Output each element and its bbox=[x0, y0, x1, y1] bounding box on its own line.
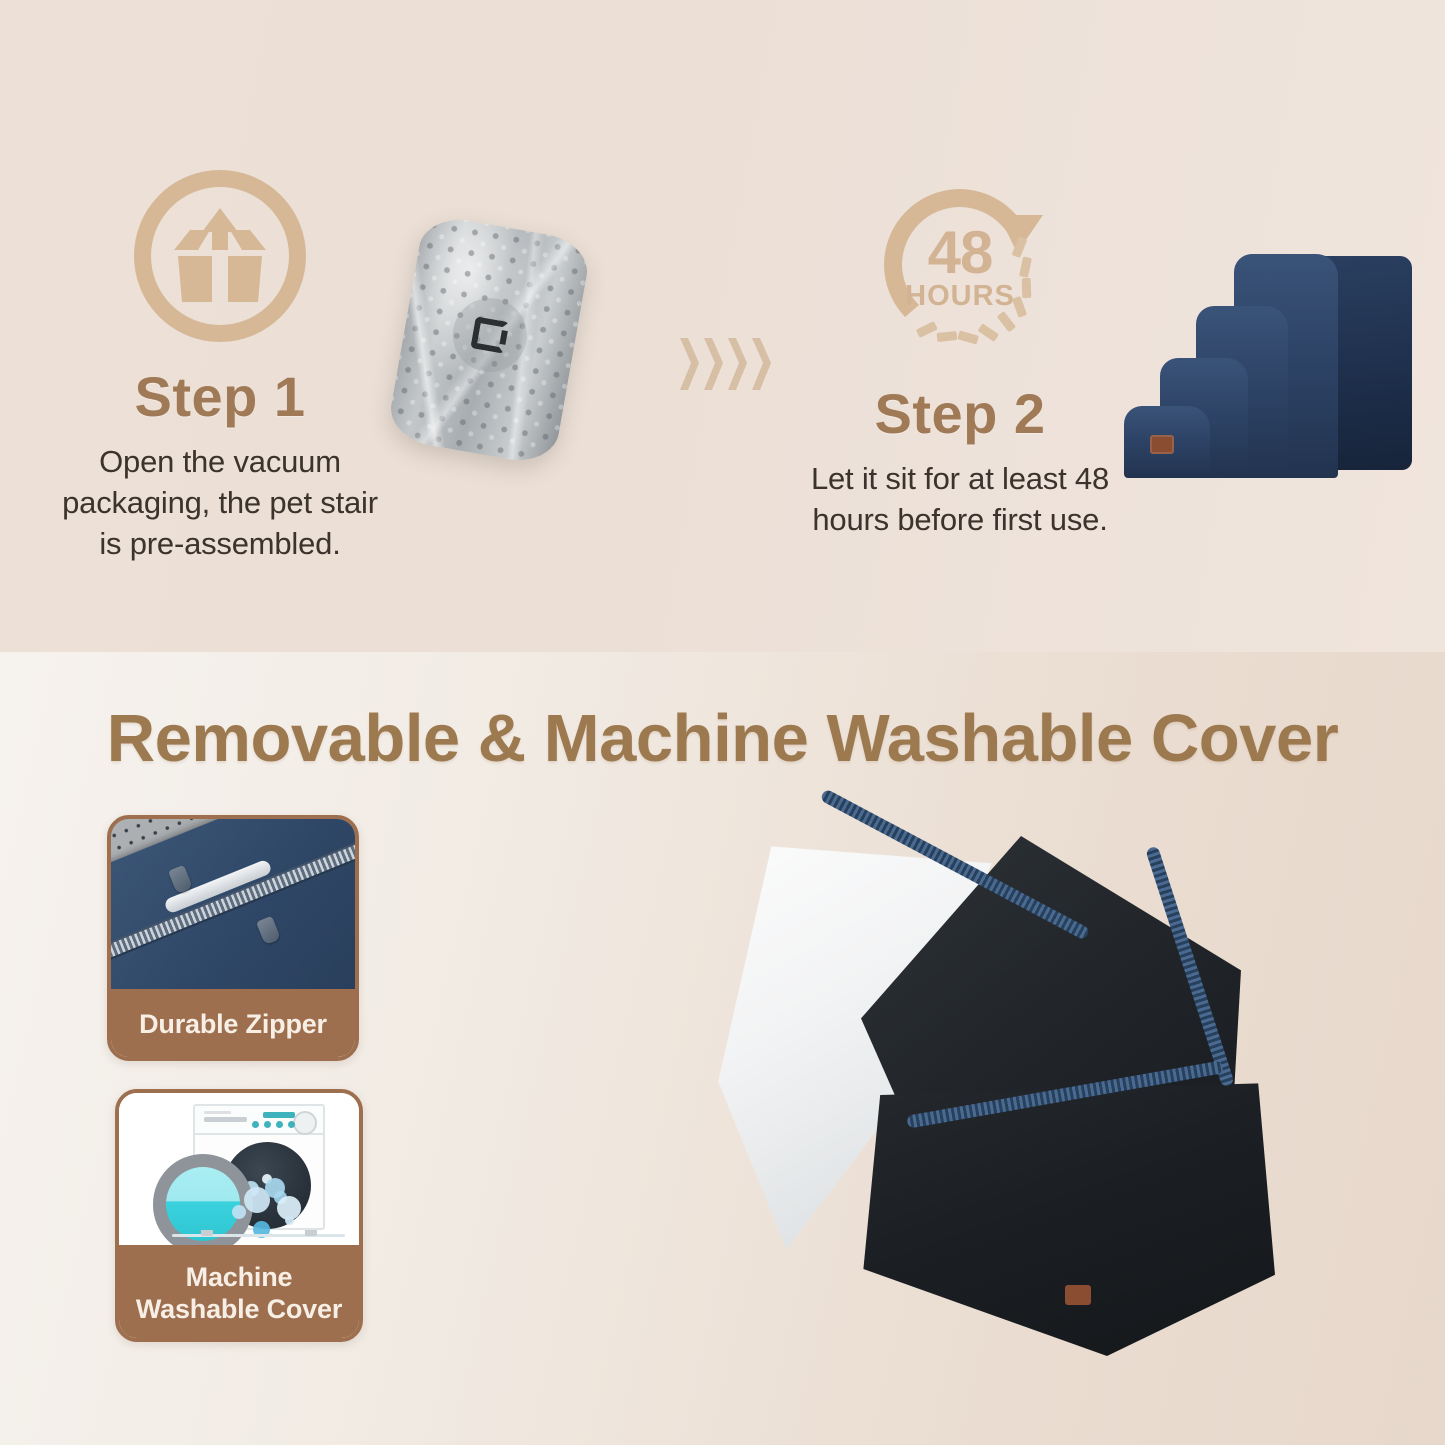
washer-button bbox=[264, 1121, 271, 1128]
icon-ring bbox=[134, 170, 306, 342]
zipper-photo-inner bbox=[111, 819, 355, 989]
open-box-arrow-icon bbox=[134, 170, 306, 342]
hero-brand-tag bbox=[1065, 1285, 1091, 1305]
brand-leather-tag bbox=[1150, 435, 1174, 454]
washer-foot bbox=[201, 1230, 213, 1236]
panel-label bbox=[204, 1111, 231, 1113]
blue-pet-stair-photo bbox=[1122, 248, 1412, 478]
bubble bbox=[285, 1216, 294, 1225]
chevron-right-icon bbox=[704, 338, 723, 390]
infographic-page: Step 1 Open the vacuum packaging, the pe… bbox=[0, 0, 1445, 1445]
step-1-block: Step 1 Open the vacuum packaging, the pe… bbox=[10, 170, 430, 564]
washer-display bbox=[263, 1112, 295, 1118]
step-1-description: Open the vacuum packaging, the pet stair… bbox=[10, 441, 430, 565]
washer-button bbox=[276, 1121, 283, 1128]
washable-cover-section: Removable & Machine Washable Cover Durab… bbox=[0, 652, 1445, 1445]
chevron-arrows bbox=[680, 338, 771, 390]
stair-treads bbox=[1122, 248, 1336, 476]
card-caption-machine-washable: Machine Washable Cover bbox=[119, 1245, 359, 1342]
black-base-slab bbox=[855, 1066, 1275, 1356]
step-2-description: Let it sit for at least 48 hours before … bbox=[760, 458, 1160, 540]
pet-stair-cover-removal-photo bbox=[505, 830, 1295, 1390]
48-hours-glyph: 48 HOURS bbox=[865, 175, 1055, 360]
feature-card-durable-zipper[interactable]: Durable Zipper bbox=[107, 815, 359, 1061]
step-1-title: Step 1 bbox=[10, 366, 430, 428]
washing-machine-scene bbox=[119, 1093, 359, 1245]
washer-button bbox=[288, 1121, 295, 1128]
chevron-right-icon bbox=[680, 338, 699, 390]
box-arrow-glyph bbox=[168, 206, 272, 306]
card-caption-durable-zipper: Durable Zipper bbox=[111, 989, 355, 1061]
steps-section: Step 1 Open the vacuum packaging, the pe… bbox=[0, 0, 1445, 652]
washer-foot bbox=[305, 1230, 317, 1236]
washer-control-panel bbox=[195, 1106, 323, 1135]
zipper-photo bbox=[111, 819, 355, 989]
step-2-title: Step 2 bbox=[760, 383, 1160, 445]
washing-machine-illustration bbox=[119, 1093, 359, 1245]
washer-button bbox=[252, 1121, 259, 1128]
brand-logo-icon bbox=[470, 317, 509, 354]
48-hours-clock-icon: 48 HOURS bbox=[865, 175, 1055, 365]
hours-number: 48 bbox=[928, 219, 993, 286]
washer-buttons bbox=[252, 1121, 295, 1128]
washer-feet bbox=[193, 1230, 325, 1236]
detergent-drawer bbox=[204, 1117, 246, 1122]
step-2-block: 48 HOURS Step 2 Let it sit for at least … bbox=[760, 175, 1160, 540]
washer-dial-icon bbox=[293, 1111, 317, 1135]
feature-card-machine-washable[interactable]: Machine Washable Cover bbox=[115, 1089, 363, 1342]
chevron-right-icon bbox=[728, 338, 747, 390]
hours-unit: HOURS bbox=[905, 280, 1015, 312]
cover-section-heading: Removable & Machine Washable Cover bbox=[0, 700, 1445, 777]
